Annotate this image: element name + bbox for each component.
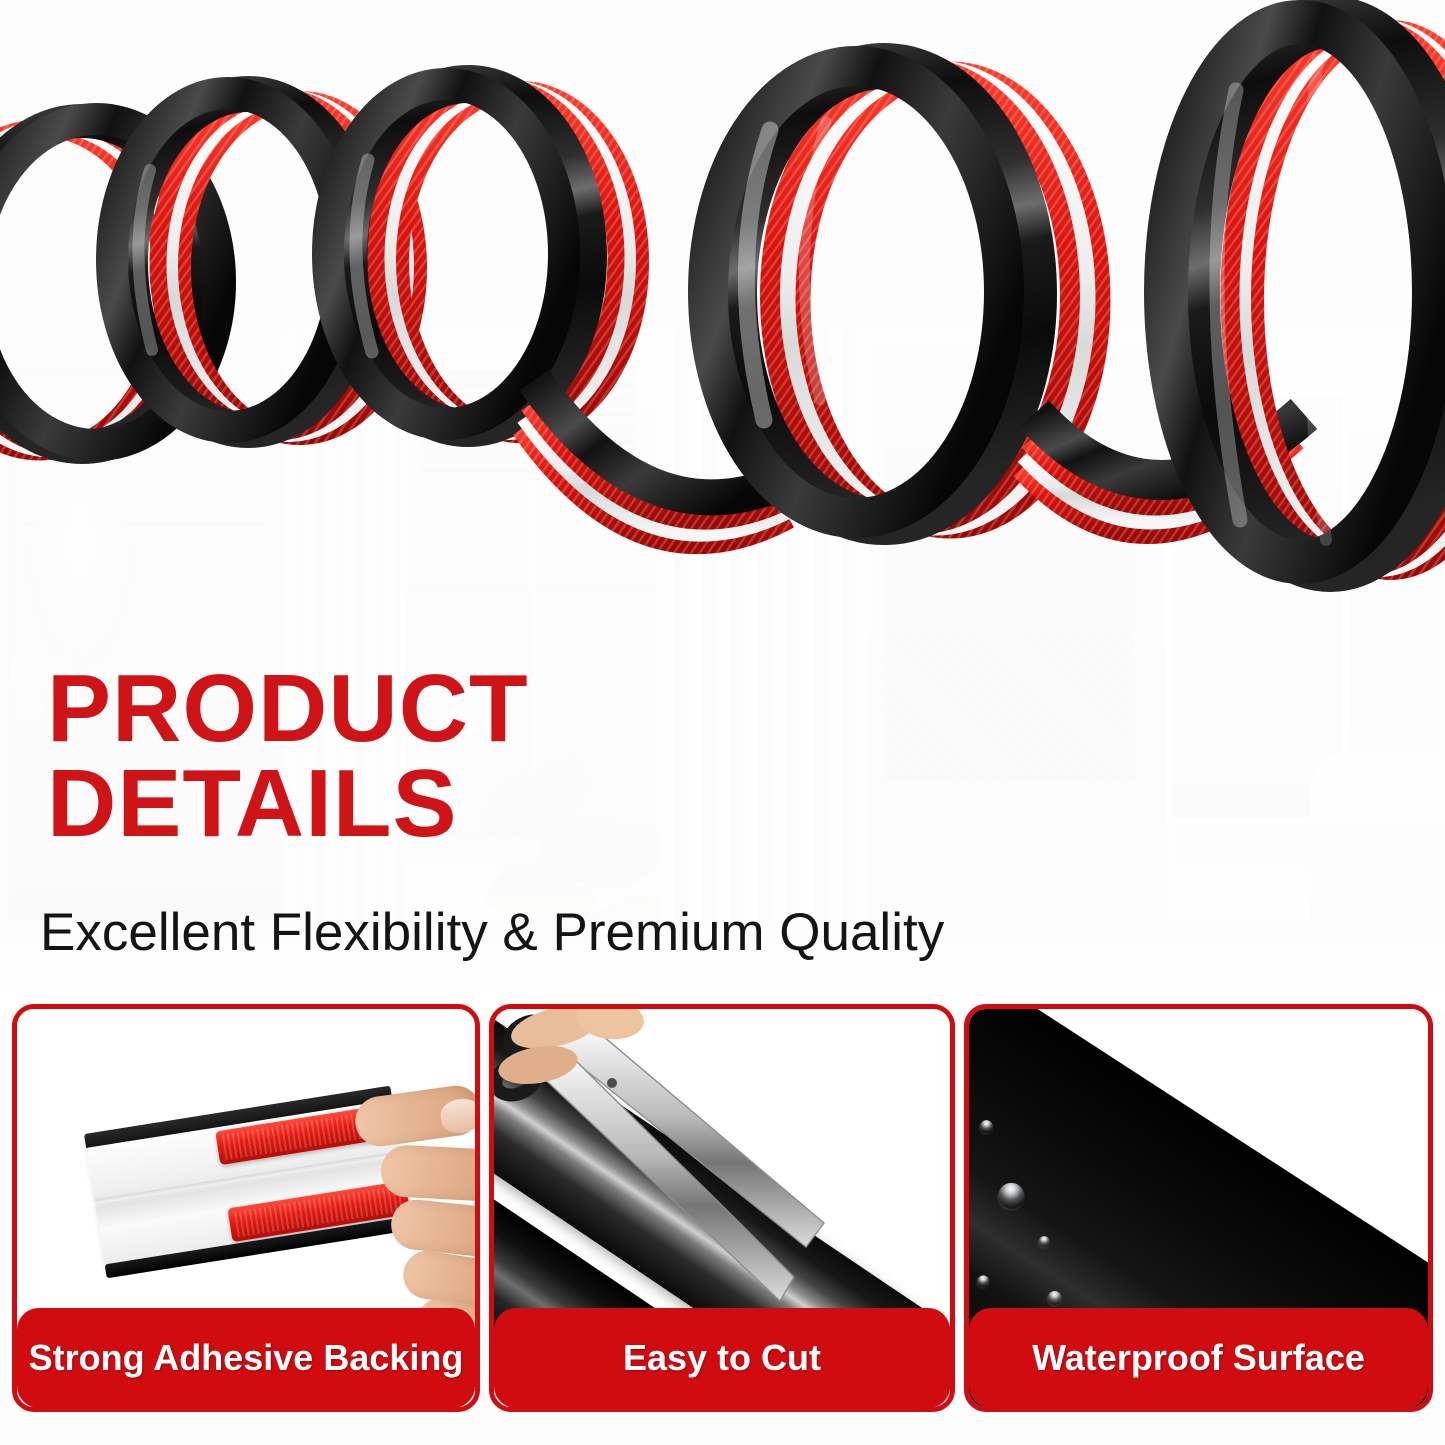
page-title: PRODUCT DETAILS <box>47 661 807 851</box>
feature-caption-label: Strong Adhesive Backing <box>29 1337 464 1379</box>
tape-coil-ring-3 <box>328 84 640 434</box>
page-subtitle: Excellent Flexibility & Premium Quality <box>40 905 1160 961</box>
water-droplet <box>1045 1288 1064 1307</box>
feature-caption-waterproof: Waterproof Surface <box>969 1308 1428 1408</box>
feature-panel-waterproof[interactable]: Waterproof Surface <box>964 1004 1433 1412</box>
feature-panel-row: Strong Adhesive Backing <box>0 1004 1445 1434</box>
tape-coil-illustration <box>0 0 1445 660</box>
water-droplet <box>1037 1234 1052 1249</box>
feature-panel-cut[interactable]: Easy to Cut <box>489 1004 955 1412</box>
index-finger <box>380 1144 475 1202</box>
page-title-line1: PRODUCT <box>47 661 807 756</box>
feature-caption-label: Waterproof Surface <box>1032 1337 1365 1379</box>
hero-tape-coil <box>0 0 1445 660</box>
feature-caption-label: Easy to Cut <box>623 1337 821 1379</box>
feature-caption-cut: Easy to Cut <box>494 1308 950 1408</box>
feature-panel-adhesive[interactable]: Strong Adhesive Backing <box>12 1004 480 1412</box>
water-droplet <box>975 1273 992 1290</box>
tape-coil-ring-5 <box>1166 22 1445 570</box>
water-droplet <box>993 1178 1029 1214</box>
middle-finger <box>389 1197 475 1258</box>
water-droplet <box>978 1118 996 1136</box>
feature-caption-adhesive: Strong Adhesive Backing <box>17 1308 475 1408</box>
page-title-line2: DETAILS <box>47 756 807 851</box>
infographic-canvas: PRODUCT DETAILS Excellent Flexibility & … <box>0 0 1445 1445</box>
